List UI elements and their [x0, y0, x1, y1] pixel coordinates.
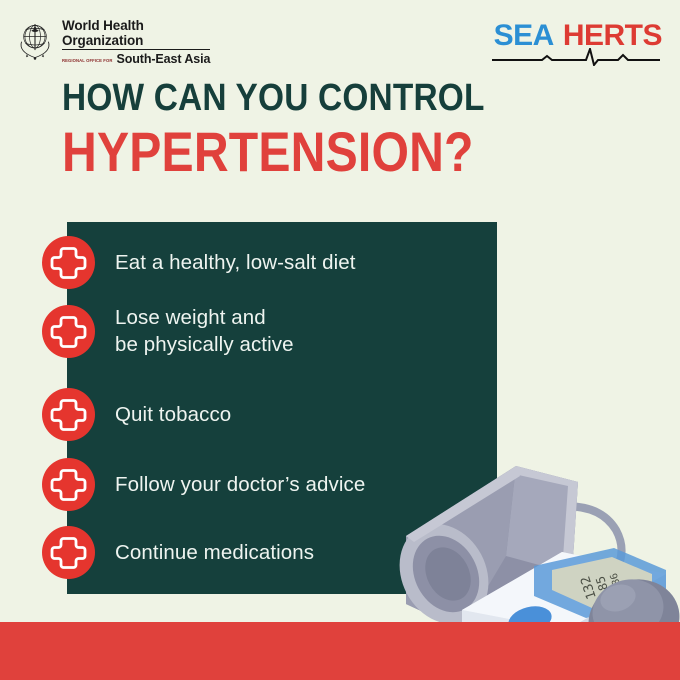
list-item: Quit tobacco — [42, 388, 231, 441]
who-logo: World Health Organization REGIONAL OFFIC… — [14, 18, 210, 66]
poster-canvas: World Health Organization REGIONAL OFFIC… — [0, 0, 680, 680]
who-line-1: World Health — [62, 19, 210, 34]
sea-hearts-logo: SEAHERTS — [490, 20, 662, 64]
list-item-label: Lose weight and be physically active — [115, 304, 294, 358]
medical-cross-icon — [42, 526, 95, 579]
medical-cross-icon — [42, 305, 95, 358]
title-line-2: HYPERTENSION? — [62, 124, 475, 180]
who-region-row: REGIONAL OFFICE FOR South-East Asia — [62, 49, 210, 66]
ecg-heartbeat-icon — [490, 48, 662, 66]
who-regional-office-label: REGIONAL OFFICE FOR — [62, 58, 112, 63]
who-line-2: Organization — [62, 34, 210, 49]
list-item-label: Follow your doctor’s advice — [115, 471, 365, 498]
medical-cross-icon — [42, 388, 95, 441]
who-emblem-icon — [14, 18, 56, 62]
list-item: Continue medications — [42, 526, 314, 579]
list-item: Eat a healthy, low-salt diet — [42, 236, 356, 289]
footer-bar — [0, 622, 680, 680]
medical-cross-icon — [42, 236, 95, 289]
title-line-1: HOW CAN YOU CONTROL — [62, 78, 485, 118]
list-item-label: Continue medications — [115, 539, 314, 566]
list-item: Follow your doctor’s advice — [42, 458, 365, 511]
list-item-label: Quit tobacco — [115, 401, 231, 428]
list-item-label: Eat a healthy, low-salt diet — [115, 249, 356, 276]
medical-cross-icon — [42, 458, 95, 511]
list-item: Lose weight and be physically active — [42, 304, 294, 358]
page-title: HOW CAN YOU CONTROL HYPERTENSION? — [62, 78, 542, 180]
who-wordmark: World Health Organization REGIONAL OFFIC… — [62, 18, 210, 66]
who-region-label: South-East Asia — [116, 52, 210, 66]
